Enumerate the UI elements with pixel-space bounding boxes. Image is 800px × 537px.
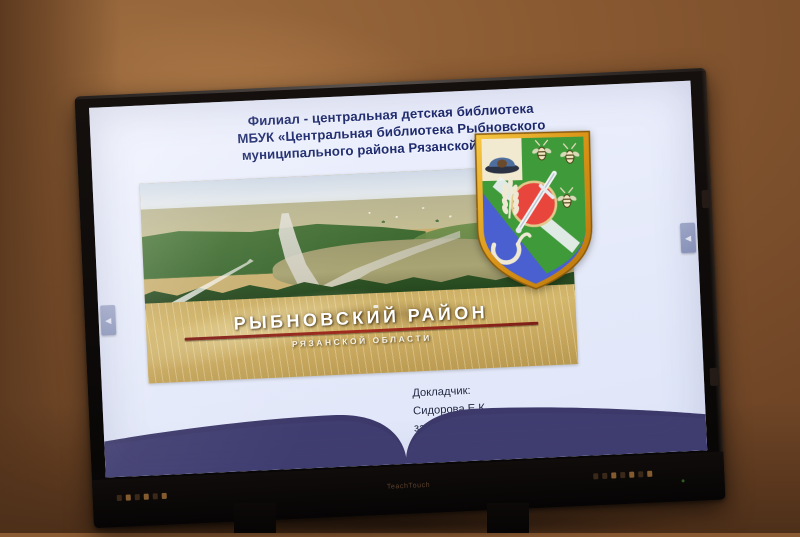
bezel-button[interactable] bbox=[153, 493, 158, 499]
bezel-button[interactable] bbox=[162, 493, 167, 499]
bezel-button[interactable] bbox=[602, 473, 607, 479]
screen-left-edge-tab[interactable]: ◀ bbox=[100, 305, 116, 336]
presentation-slide: Филиал - центральная детская библиотека … bbox=[89, 81, 707, 478]
bezel-button[interactable] bbox=[611, 472, 616, 478]
bezel-button[interactable] bbox=[593, 473, 598, 479]
bezel-button[interactable] bbox=[629, 472, 634, 478]
bezel-button[interactable] bbox=[620, 472, 625, 478]
stand-leg-left bbox=[234, 503, 276, 533]
bezel-side-grip-top bbox=[701, 190, 710, 208]
left-button-row[interactable] bbox=[117, 493, 167, 501]
power-led bbox=[682, 479, 685, 482]
bezel-button[interactable] bbox=[126, 494, 131, 500]
coat-of-arms bbox=[473, 130, 595, 291]
bezel-button[interactable] bbox=[647, 471, 652, 477]
interactive-display[interactable]: Филиал - центральная детская библиотека … bbox=[75, 68, 726, 528]
screen-right-edge-tab[interactable]: ◀ bbox=[680, 223, 696, 254]
bezel-side-grip-bottom bbox=[709, 368, 718, 386]
slide-title: Филиал - центральная детская библиотека … bbox=[90, 93, 694, 172]
bezel-button[interactable] bbox=[135, 494, 140, 500]
bezel-button[interactable] bbox=[144, 494, 149, 500]
display-screen[interactable]: Филиал - центральная детская библиотека … bbox=[89, 81, 707, 478]
stand-leg-right bbox=[487, 503, 529, 533]
right-button-row[interactable] bbox=[593, 471, 652, 480]
display-brand-label: TeachTouch bbox=[387, 482, 431, 491]
bezel-button[interactable] bbox=[117, 495, 122, 501]
bezel-button[interactable] bbox=[638, 471, 643, 477]
